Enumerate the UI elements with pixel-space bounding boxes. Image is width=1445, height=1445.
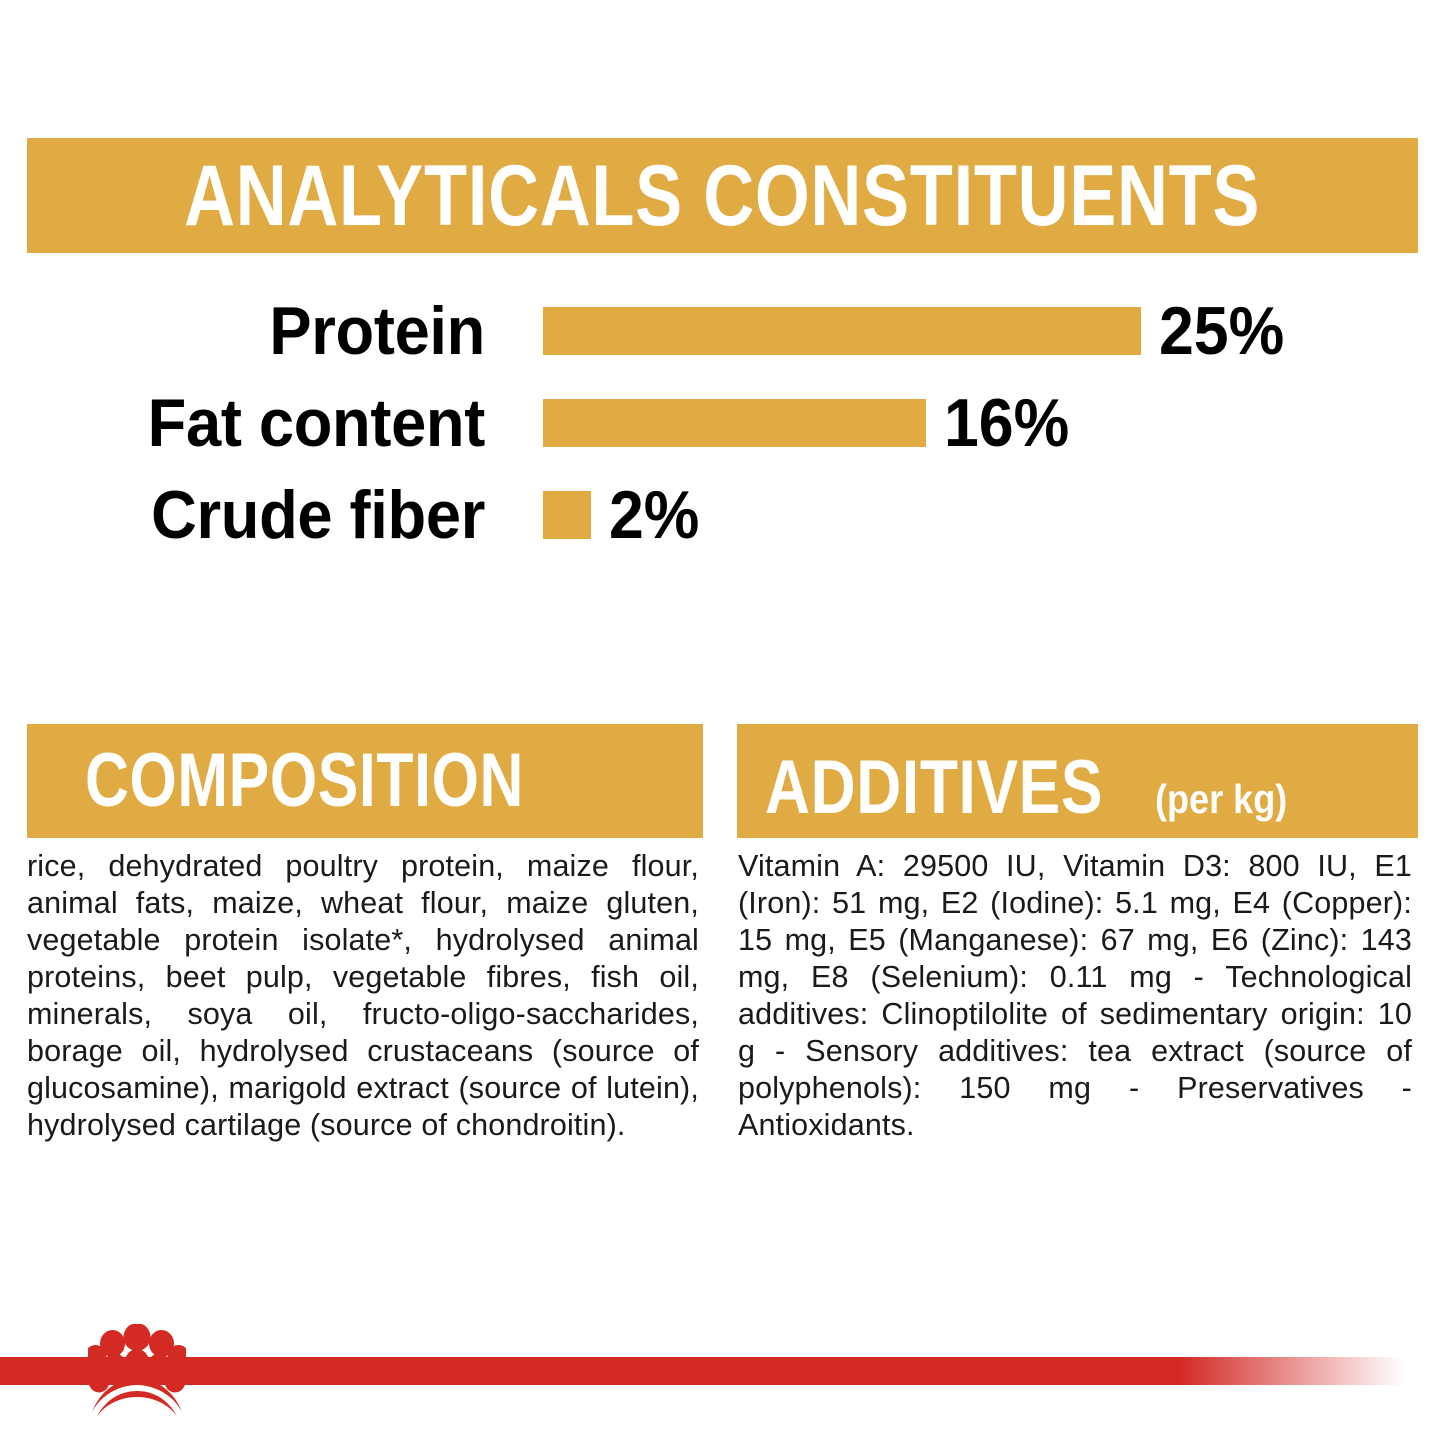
chart-row-crude-fiber: Crude fiber 2%	[0, 469, 1445, 561]
additives-header: ADDITIVES (per kg)	[737, 724, 1418, 838]
brand-rule	[0, 1357, 1404, 1385]
composition-text: rice, dehydrated poultry protein, maize …	[27, 848, 699, 1144]
bar-wrap-protein: 25%	[543, 297, 1295, 365]
bar-wrap-fat-content: 16%	[543, 389, 1080, 457]
brand-footer	[0, 1357, 1445, 1445]
bar-protein	[543, 307, 1141, 355]
composition-header: COMPOSITION	[27, 724, 703, 838]
analyticals-bar-chart: Protein 25% Fat content 16% Crude fiber …	[0, 285, 1445, 560]
chart-label-crude-fiber: Crude fiber	[34, 481, 485, 549]
bar-fat-content	[543, 399, 926, 447]
bar-wrap-crude-fiber: 2%	[543, 481, 707, 549]
additives-subtitle: (per kg)	[1155, 776, 1287, 823]
royal-canin-crown-icon	[88, 1324, 186, 1416]
composition-title: COMPOSITION	[85, 743, 524, 819]
additives-text: Vitamin A: 29500 IU, Vitamin D3: 800 IU,…	[738, 848, 1412, 1144]
bar-crude-fiber	[543, 491, 591, 539]
bar-value-fat-content: 16%	[944, 389, 1069, 457]
chart-row-protein: Protein 25%	[0, 285, 1445, 377]
additives-title: ADDITIVES	[765, 750, 1103, 826]
bar-value-protein: 25%	[1159, 297, 1284, 365]
chart-label-fat-content: Fat content	[34, 389, 485, 457]
chart-row-fat-content: Fat content 16%	[0, 377, 1445, 469]
chart-label-protein: Protein	[34, 297, 485, 365]
analyticals-constituents-header: ANALYTICALS CONSTITUENTS	[27, 138, 1418, 253]
analyticals-constituents-title: ANALYTICALS CONSTITUENTS	[184, 153, 1260, 239]
bar-value-crude-fiber: 2%	[609, 481, 699, 549]
